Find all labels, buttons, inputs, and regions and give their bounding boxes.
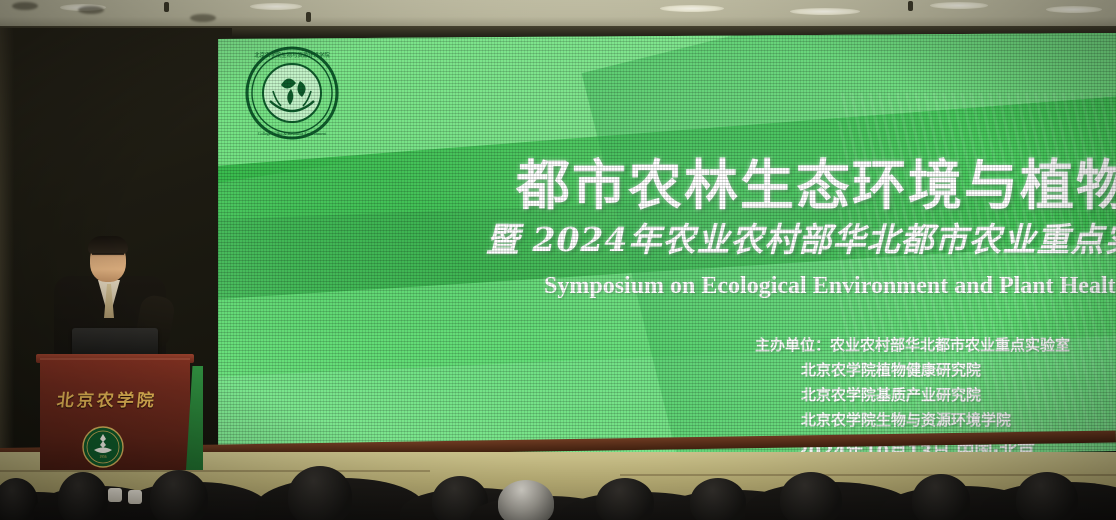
speaker-hair: [88, 236, 128, 254]
ceiling-light: [930, 2, 988, 9]
conference-photo-scene: 北京农学院生物与资源环境学院 College of Bio & Resource…: [0, 0, 1116, 520]
audience-head: [596, 478, 654, 520]
slide-title-en: Symposium on Ecological Environment and …: [544, 273, 1116, 300]
audience: [0, 440, 1116, 520]
slide-title-cn: 都市农林生态环境与植物健康论坛: [516, 141, 1116, 220]
ceiling-vent: [12, 2, 38, 10]
ceiling-spotlight: [164, 2, 169, 12]
organizer-item-0: 农业农村部华北都市农业重点实验室: [830, 336, 1070, 354]
speaker-at-podium: 北京农学院 1956: [28, 236, 203, 468]
organizer-item-3: 北京农学院生物与资源环境学院: [755, 408, 1070, 433]
ceiling-light: [660, 5, 724, 12]
audience-head-grey-hair: [498, 480, 554, 520]
slide-organizers: 主办单位：农业农村部华北都市农业重点实验室 北京农学院植物健康研究院 北京农学院…: [755, 333, 1070, 433]
audience-head: [780, 472, 842, 520]
audience-head: [690, 478, 746, 520]
slide-text-layer: 都市农林生态环境与植物健康论坛 暨 2024年农业农村部华北都市农业重点实验室学…: [218, 33, 1116, 465]
cup-icon: [128, 490, 142, 504]
ceiling-light: [1046, 6, 1102, 13]
organizer-item-2: 北京农学院基质产业研究院: [755, 383, 1070, 408]
organizer-label: 主办单位：: [755, 336, 830, 354]
ceiling-light: [790, 8, 860, 15]
audience-head: [288, 466, 352, 520]
organizer-line-1: 主办单位：农业农村部华北都市农业重点实验室: [755, 333, 1070, 358]
ceiling-light: [250, 3, 302, 10]
audience-head: [912, 474, 970, 520]
organizer-item-1: 北京农学院植物健康研究院: [755, 358, 1070, 383]
ceiling-spotlight: [306, 12, 311, 22]
ceiling-vent: [78, 6, 104, 14]
slide-subtitle-cn: 暨 2024年农业农村部华北都市农业重点实验室学术年会: [486, 213, 1116, 261]
ceiling-vent: [190, 14, 216, 22]
podium-institution-name: 北京农学院: [41, 386, 174, 411]
audience-head: [0, 478, 38, 520]
table-items: [100, 486, 220, 506]
cup-icon: [108, 488, 122, 502]
ceiling-spotlight: [908, 1, 913, 11]
glasses-icon: [92, 253, 124, 262]
audience-head: [1016, 472, 1078, 520]
led-presentation-screen: 北京农学院生物与资源环境学院 College of Bio & Resource…: [218, 33, 1116, 465]
